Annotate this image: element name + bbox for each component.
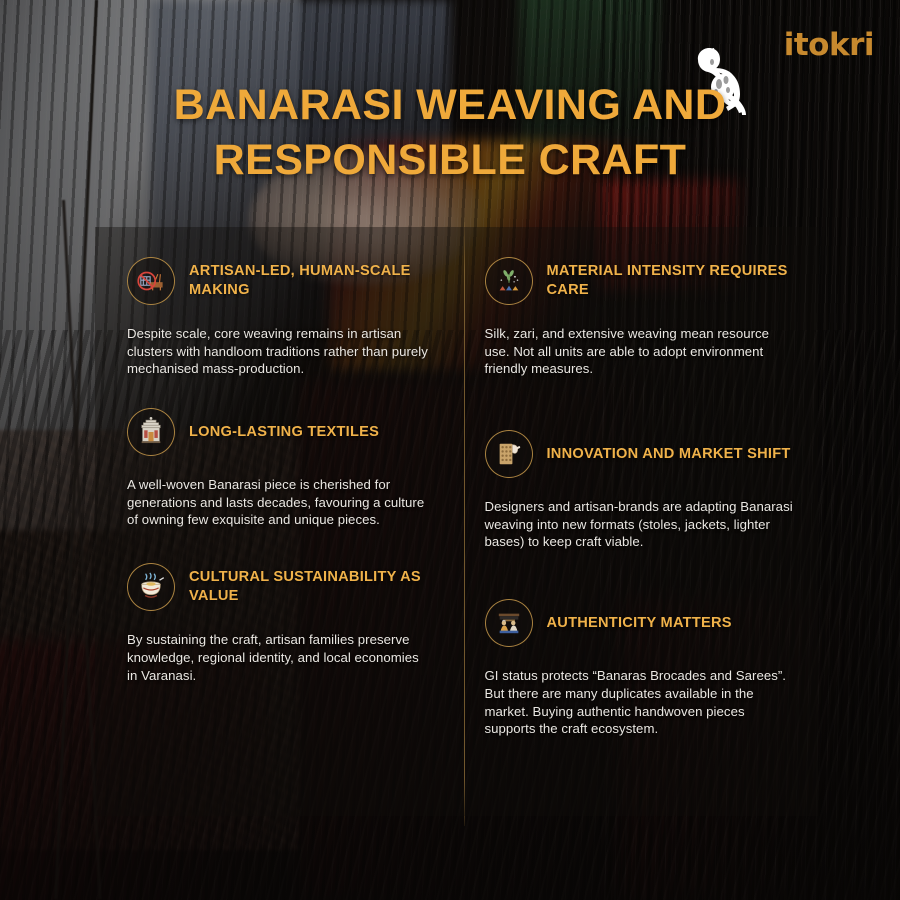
card-body: A well-woven Banarasi piece is cherished… [127,476,431,529]
content-panel: ARTISAN-LED, HUMAN-SCALE MAKING Despite … [95,227,818,816]
brand-logo[interactable]: itokri [784,30,874,61]
card-title: MATERIAL INTENSITY REQUIRES CARE [547,262,797,299]
card-title: CULTURAL SUSTAINABILITY AS VALUE [189,568,431,605]
infographic-poster: itokri BANARASI WEAVING AND RESPONSIBLE … [0,0,900,900]
fabric-swatch-icon [485,430,533,478]
card-innovation-market-shift: INNOVATION AND MARKET SHIFT Designers an… [485,430,797,551]
card-header: INNOVATION AND MARKET SHIFT [485,430,797,478]
card-cultural-sustainability: CULTURAL SUSTAINABILITY AS VALUE By sust… [127,563,431,684]
card-body: Despite scale, core weaving remains in a… [127,325,431,378]
card-header: LONG-LASTING TEXTILES [127,408,431,456]
card-title: ARTISAN-LED, HUMAN-SCALE MAKING [189,262,431,299]
card-body: Silk, zari, and extensive weaving mean r… [485,325,797,378]
heritage-temple-icon [127,408,175,456]
no-mass-production-icon [127,257,175,305]
card-header: ARTISAN-LED, HUMAN-SCALE MAKING [127,257,431,305]
two-weavers-loom-icon [485,599,533,647]
card-authenticity-matters: AUTHENTICITY MATTERS GI status protects … [485,599,797,738]
left-column: ARTISAN-LED, HUMAN-SCALE MAKING Despite … [95,227,457,816]
card-title: INNOVATION AND MARKET SHIFT [547,445,791,464]
seedling-resources-icon [485,257,533,305]
card-header: MATERIAL INTENSITY REQUIRES CARE [485,257,797,305]
card-header: AUTHENTICITY MATTERS [485,599,797,647]
cooking-pot-icon [127,563,175,611]
card-long-lasting-textiles: LONG-LASTING TEXTILES A well-woven Banar… [127,408,431,529]
card-header: CULTURAL SUSTAINABILITY AS VALUE [127,563,431,611]
card-material-intensity: MATERIAL INTENSITY REQUIRES CARE Silk, z… [485,257,797,378]
page-title: BANARASI WEAVING AND RESPONSIBLE CRAFT [0,78,900,188]
right-column: MATERIAL INTENSITY REQUIRES CARE Silk, z… [457,227,819,816]
card-title: AUTHENTICITY MATTERS [547,614,732,633]
brand-logo-text: itokri [784,30,874,61]
card-body: GI status protects “Banaras Brocades and… [485,667,797,738]
card-body: By sustaining the craft, artisan familie… [127,631,431,684]
card-artisan-led: ARTISAN-LED, HUMAN-SCALE MAKING Despite … [127,257,431,378]
card-body: Designers and artisan-brands are adaptin… [485,498,797,551]
card-title: LONG-LASTING TEXTILES [189,423,379,442]
